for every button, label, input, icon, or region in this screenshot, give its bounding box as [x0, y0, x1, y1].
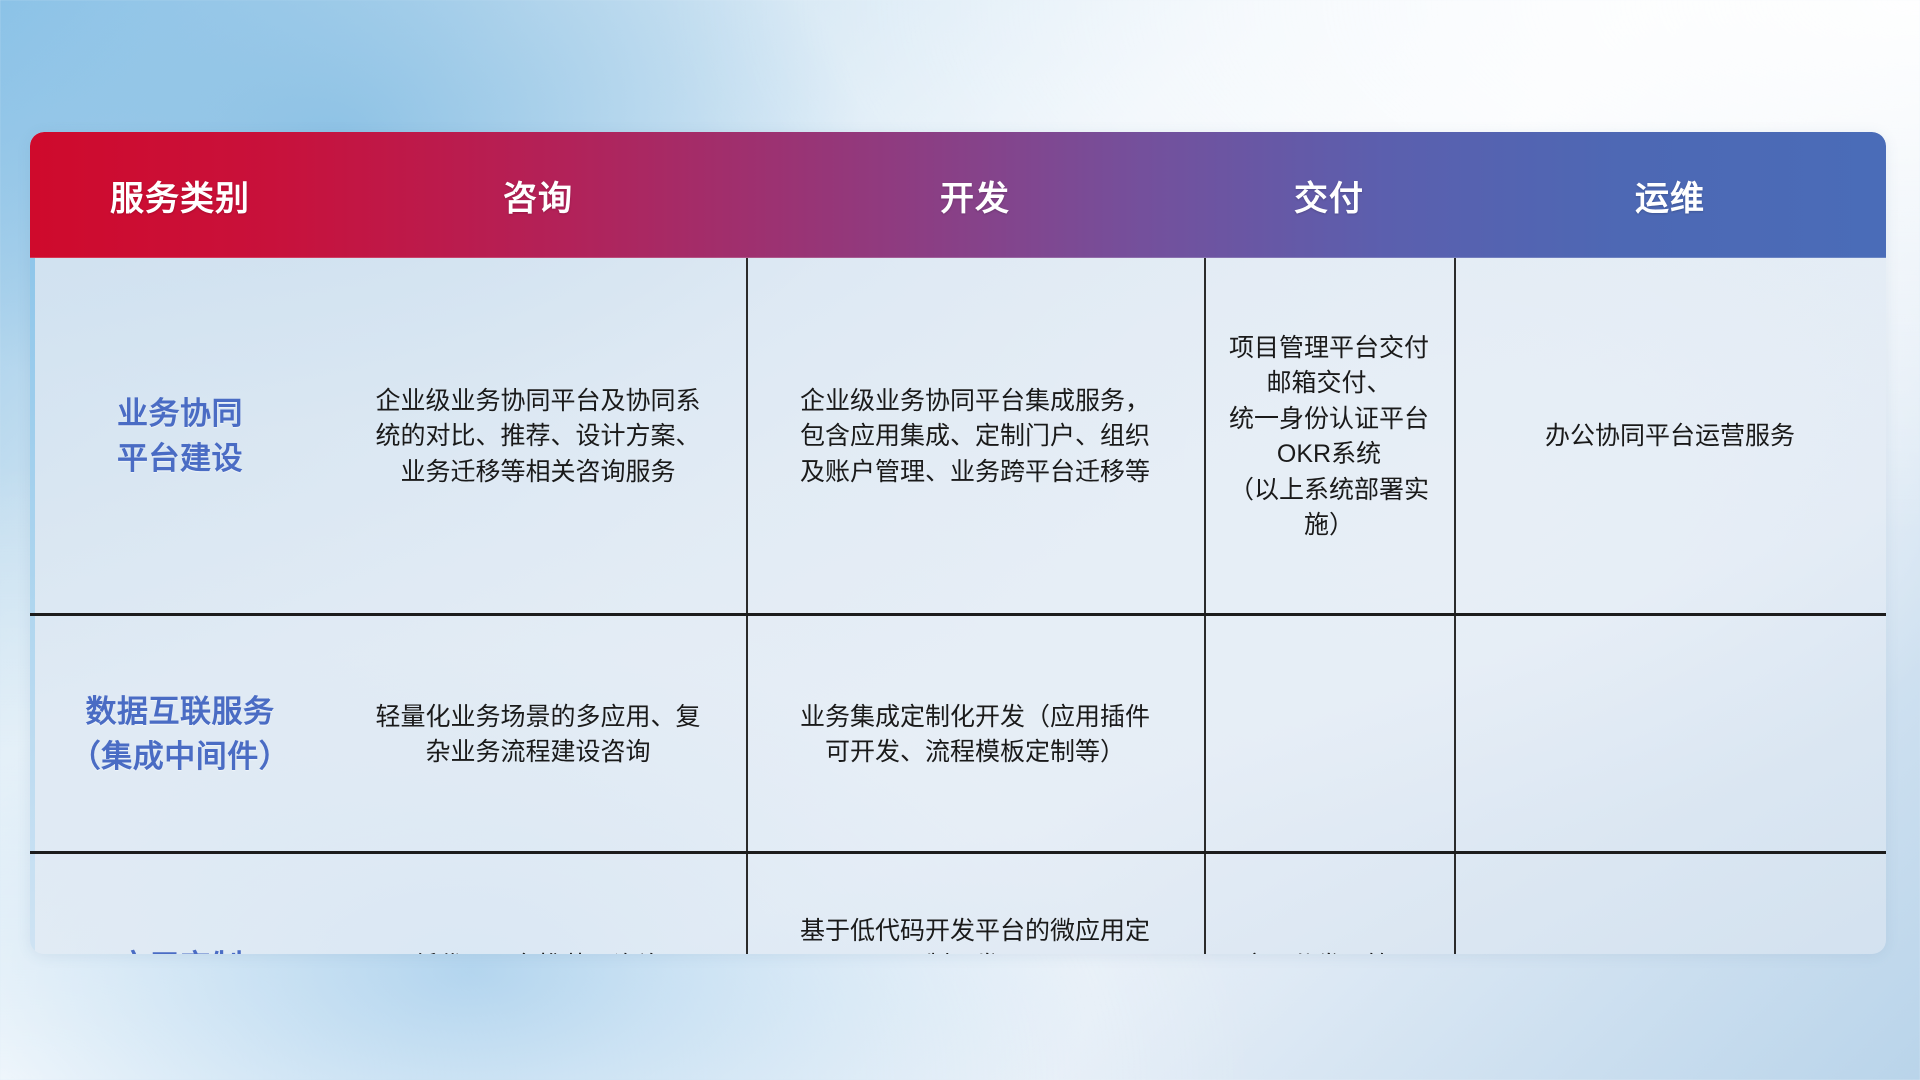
- column-divider: [746, 854, 748, 954]
- row-category-label: 数据互联服务 （集成中间件）: [30, 616, 330, 854]
- column-divider: [1454, 616, 1456, 854]
- row-category-label: 业务协同 平台建设: [30, 258, 330, 616]
- column-divider: [1454, 854, 1456, 954]
- column-header-delivery: 交付: [1204, 171, 1454, 220]
- table-row: 数据互联服务 （集成中间件） 轻量化业务场景的多应用、复 杂业务流程建设咨询 业…: [30, 616, 1886, 854]
- table-row: 业务协同 平台建设 企业级业务协同平台及协同系 统的对比、推荐、设计方案、 业务…: [30, 258, 1886, 616]
- cell-operations: 办公协同平台运营服务: [1454, 258, 1886, 616]
- cell-delivery: 应用分发及管理: [1204, 854, 1454, 954]
- table-body: 业务协同 平台建设 企业级业务协同平台及协同系 统的对比、推荐、设计方案、 业务…: [30, 258, 1886, 954]
- column-divider: [746, 258, 748, 616]
- cell-operations: [1454, 616, 1886, 854]
- cell-development: 企业级业务协同平台集成服务， 包含应用集成、定制门户、组织 及账户管理、业务跨平…: [746, 258, 1204, 616]
- column-divider: [746, 616, 748, 854]
- cell-development: 基于低代码开发平台的微应用定 制开发； 基于通过语言的微应用定制开发: [746, 854, 1204, 954]
- cell-consulting: 轻量化业务场景的多应用、复 杂业务流程建设咨询: [330, 616, 746, 854]
- column-divider: [1454, 258, 1456, 616]
- cell-development: 业务集成定制化开发（应用插件 可开发、流程模板定制等）: [746, 616, 1204, 854]
- column-header-operations: 运维: [1454, 171, 1886, 220]
- cell-delivery: 项目管理平台交付 邮箱交付、 统一身份认证平台 OKR系统 （以上系统部署实施）: [1204, 258, 1454, 616]
- table-row: 应用定制 低代码平台推荐及咨询 基于低代码开发平台的微应用定 制开发； 基于通过…: [30, 854, 1886, 954]
- column-header-development: 开发: [746, 171, 1204, 220]
- cell-consulting: 低代码平台推荐及咨询: [330, 854, 746, 954]
- table-header-row: 服务类别 咨询 开发 交付 运维: [30, 132, 1886, 258]
- column-divider: [1204, 258, 1206, 616]
- cell-delivery: [1204, 616, 1454, 854]
- row-category-label: 应用定制: [30, 854, 330, 954]
- column-divider: [1204, 854, 1206, 954]
- column-divider: [1204, 616, 1206, 854]
- cell-operations: [1454, 854, 1886, 954]
- service-matrix-table: 服务类别 咨询 开发 交付 运维 业务协同 平台建设 企业级业务协同平台及协同系…: [30, 132, 1886, 954]
- column-header-category: 服务类别: [30, 171, 330, 220]
- cell-consulting: 企业级业务协同平台及协同系 统的对比、推荐、设计方案、 业务迁移等相关咨询服务: [330, 258, 746, 616]
- column-header-consulting: 咨询: [330, 171, 746, 220]
